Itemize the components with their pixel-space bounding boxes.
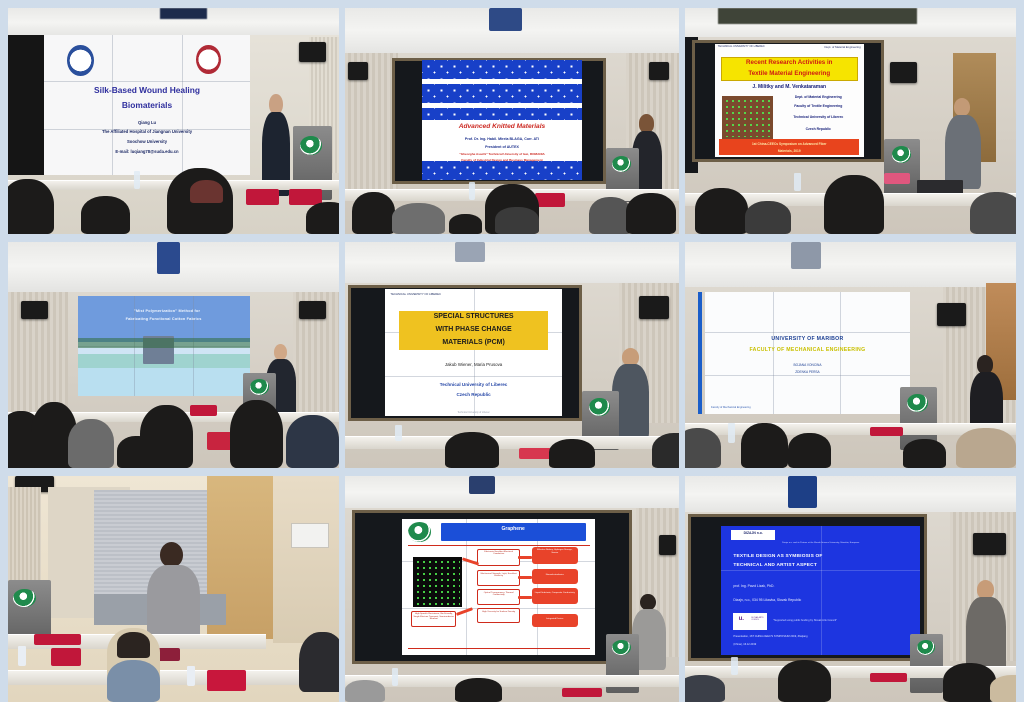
slide-brand: DIZAJN n.o. [731,532,775,536]
graphene-lattice-image [413,557,461,607]
slide-title-line1: SPECIAL STRUCTURES [396,313,552,321]
ceiling-projector-icon [469,476,496,494]
application-box-1: Effective Battery, Hydrogen Storage, Sen… [532,547,578,563]
photo-panel-8[interactable]: Graphene Electronic Excellent Electrical… [345,476,679,702]
wall-speaker-icon [299,42,325,62]
slide-affiliation-1: Technical University of Liberec [394,382,553,387]
application-box-3: Liquid Substrate, Composite Conductivity [532,588,578,604]
audience-8 [345,661,679,702]
photo-panel-2[interactable]: Advanced Knitted Materials Prof. Dr. Ing… [345,8,679,234]
audience-6 [685,396,1016,468]
wall-speaker-icon [973,533,1006,556]
slide-funding-note: "Supported using public funding by Slova… [773,620,914,623]
slide-title-line2: Biomaterials [55,101,240,111]
slide-title-line1: Silk-Based Wound Healing [55,86,240,96]
wall-speaker-icon [659,535,676,555]
presentation-screen-1: Silk-Based Wound Healing Biomaterials Qi… [44,35,249,175]
slide-title-line2: Fabricating Functional Cotton Fabrics [84,317,242,321]
presentation-screen-5: TECHNICAL UNIVERSITY OF LIBEREC SPECIAL … [385,289,562,416]
photo-panel-9[interactable]: DIZAJN n.o. Dizajn n.o. and its Partner … [685,476,1016,702]
slide-affiliation-2: Faculty of Textile Engineering [777,105,859,109]
lecture-room-scene-5: TECHNICAL UNIVERSITY OF LIBEREC SPECIAL … [345,242,679,468]
presentation-screen-3: TECHNICAL UNIVERSITY OF LIBEREC Dept. of… [715,44,864,157]
property-box-2: Mechanical Strength, Light, Excellent El… [477,570,520,586]
slide-title-line2: WITH PHASE CHANGE [396,326,552,334]
property-box-4: High Viscosity for Surface Density [477,608,520,622]
university-logo-right-icon [196,45,221,74]
wall-speaker-left-icon [21,301,47,319]
slide-authors: J. Militky and M. Venkataraman [721,85,858,91]
application-box-4: Integrated Device [532,614,578,628]
slide-header-left: TECHNICAL UNIVERSITY OF LIBEREC [718,46,765,49]
slide-affiliation-2: Czech Republic [394,392,553,397]
lecture-room-scene-6: UNIVERSITY OF MARIBOR FACULTY OF MECHANI… [685,242,1016,468]
wall-speaker-icon [639,296,669,319]
presentation-screen-2: Advanced Knitted Materials Prof. Dr. Ing… [422,60,582,180]
slide-title: Advanced Knitted Materials [425,123,579,131]
slide-title-line2: FACULTY OF MECHANICAL ENGINEERING [713,348,902,354]
audience-1 [8,157,339,234]
slide-title-line1: TEXTILE DESIGN AS SYMBIOSIS OF [733,554,912,560]
slide-header-right: Dept. of Material Engineering [825,46,861,49]
slide-title-line1: Recent Research Activities in [721,59,858,66]
wall-speaker-right-icon [649,62,669,80]
audience-4 [8,373,339,468]
lecture-room-scene-3: TECHNICAL UNIVERSITY OF LIBEREC Dept. of… [685,8,1016,234]
slide-header: TECHNICAL UNIVERSITY OF LIBEREC [390,293,441,296]
slide-author-2: ZDENKA PERSA [713,371,902,375]
university-logo-left-icon [67,45,94,76]
slide-title-line2: TECHNICAL AND ARTIST ASPECT [733,563,912,569]
slide-title-line3: MATERIALS (PCM) [396,339,552,347]
wall-speaker-left-icon [348,62,368,80]
audience-3 [685,162,1016,234]
ceiling-projector-icon [489,8,522,31]
slide-affiliation-1: The Affiliated Hospital of Jiangnan Univ… [55,130,240,135]
ceiling-projector-icon [791,242,821,269]
ceiling-projector-icon [788,476,818,508]
audience-7 [8,603,339,702]
audience-5 [345,418,679,468]
slide-affiliation-1: Dept. of Material Engineering [777,96,859,100]
lecture-room-scene-8: Graphene Electronic Excellent Electrical… [345,476,679,702]
slide-title-line2: Textile Material Engineering [721,70,858,77]
slide-footer-line1: 1st China-CEECs Symposium on Advanced Fi… [721,143,858,147]
lecture-room-scene-1: Silk-Based Wound Healing Biomaterials Qi… [8,8,339,234]
slide-title-line1: "Mist Polymerization" Method for [91,309,242,313]
lecture-room-scene-4: "Mist Polymerization" Method for Fabrica… [8,242,339,468]
audience-9 [685,643,1016,702]
wall-speaker-right-icon [299,301,325,319]
lecture-room-scene-9: DIZAJN n.o. Dizajn n.o. and its Partner … [685,476,1016,702]
slide-authors: Jakub Wiener, Maria Prusova [394,362,553,367]
property-box-5: High Specific Resistance, Bio Friendly, … [411,611,456,627]
slide-role: President of AUTEX [425,145,579,149]
photo-panel-6[interactable]: UNIVERSITY OF MARIBOR FACULTY OF MECHANI… [685,242,1016,468]
photo-panel-3[interactable]: TECHNICAL UNIVERSITY OF LIBEREC Dept. of… [685,8,1016,234]
slide-logo-sub: SLOVAK ARTS COUNCIL [751,617,767,621]
photo-panel-5[interactable]: TECHNICAL UNIVERSITY OF LIBEREC SPECIAL … [345,242,679,468]
photo-collage: Silk-Based Wound Healing Biomaterials Qi… [0,0,1024,702]
slide-logo-letter: u. [733,616,749,623]
audience-2 [345,166,679,234]
application-box-2: Nanoelectrodevice [532,569,578,584]
slide-organization: Dizajn, n.o., 034 95 Likavka, Slovak Rep… [733,599,912,603]
slide-author: Prof. Dr. Ing. Habil. Mirela BLAGA, Corr… [425,137,579,141]
slide-author: prof. Ing. Pavol Lizak, PhD. [733,585,912,589]
ceiling-projector-icon [455,242,485,262]
slide-author: Qiang Lu [55,121,240,126]
slide-footer-line2: Materials, 2019 [721,150,858,154]
photo-panel-7[interactable] [8,476,339,702]
lecture-room-scene-7 [8,476,339,702]
slide-affiliation-3: Technical University of Liberec [777,116,859,120]
host-logo-icon [408,522,431,542]
photo-panel-4[interactable]: "Mist Polymerization" Method for Fabrica… [8,242,339,468]
presentation-screen-8: Graphene Electronic Excellent Electrical… [402,519,596,655]
slide-affiliation-2: Soochow University [55,140,240,145]
slide-affiliation-4: Czech Republic [777,128,859,132]
slide-affiliation-2: Faculty of Industrial Design and Busines… [425,159,579,163]
slide-affiliation-1: "Gheorghe Asachi" Technical University o… [425,153,579,157]
property-box-1: Electronic Excellent Electrical Conducti… [477,549,520,566]
presentation-screen-9: DIZAJN n.o. Dizajn n.o. and its Partner … [721,526,920,655]
wall-speaker-icon [937,303,967,326]
slide-author-1: BOJANA VONCINA [713,364,902,368]
ceiling-projector-icon [157,242,180,274]
property-box-3: Optical Transparency, Thermal Conductivi… [477,589,520,605]
photo-panel-1[interactable]: Silk-Based Wound Healing Biomaterials Qi… [8,8,339,234]
slide-email: E-mail: luqiang78@suda.edu.cn [55,150,240,155]
slide-title: Graphene [441,527,586,533]
lecture-room-scene-2: Advanced Knitted Materials Prof. Dr. Ing… [345,8,679,234]
wall-speaker-icon [890,62,916,82]
slide-presentation-line1: Presentation, 1ST CHINA-CEEC'S SYMPOSIUM… [733,636,914,639]
slide-footer: Technical University of Liberec [385,412,562,415]
slide-subline: Dizajn n.o. and its Partner at the Slova… [731,542,910,545]
slide-photo-thumbnail [722,96,773,139]
slide-title-line1: UNIVERSITY OF MARIBOR [713,337,902,343]
